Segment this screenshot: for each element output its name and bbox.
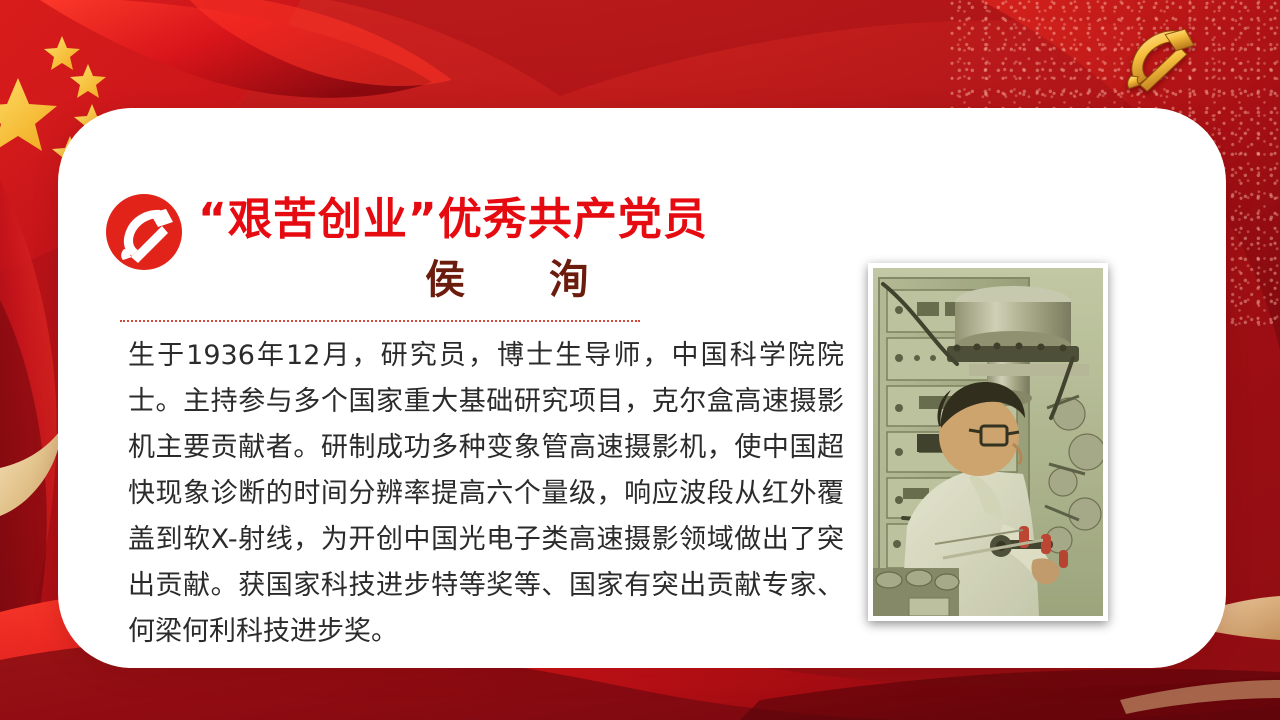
portrait-photo (868, 263, 1108, 621)
divider (120, 320, 640, 322)
hammer-sickle-emblem-icon (1112, 22, 1204, 94)
content-card: “艰苦创业”优秀共产党员 侯 洵 生于1936年12月，研究员，博士生导师，中国… (58, 108, 1226, 668)
party-emblem-badge-icon (104, 192, 184, 272)
photo-illustration (873, 268, 1103, 616)
person-name: 侯 洵 (198, 258, 838, 302)
biography-text: 生于1936年12月，研究员，博士生导师，中国科学院院士。主持参与多个国家重大基… (128, 333, 844, 655)
page-title: “艰苦创业”优秀共产党员 (198, 196, 838, 244)
